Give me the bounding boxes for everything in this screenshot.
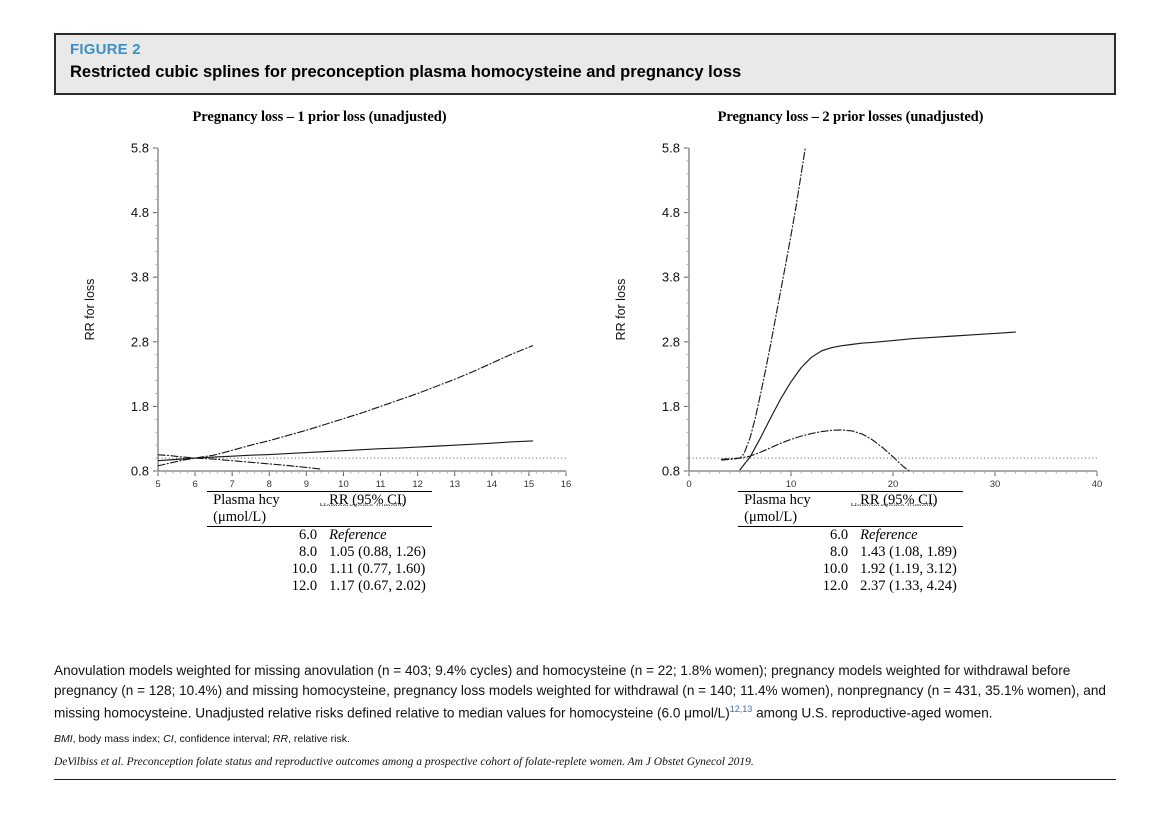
panel-right: Pregnancy loss – 2 prior losses (unadjus… bbox=[585, 95, 1116, 655]
y-tick-label: 5.8 bbox=[662, 141, 680, 156]
x-tick-label: 30 bbox=[990, 479, 1001, 490]
figure-header: FIGURE 2 Restricted cubic splines for pr… bbox=[54, 33, 1116, 95]
table-cell-rr: 1.92 (1.19, 3.12) bbox=[854, 561, 963, 578]
x-tick-label: 6 bbox=[192, 479, 197, 490]
y-axis-title: RR for loss bbox=[614, 279, 628, 341]
table-header-hcy: Plasma hcy(μmol/L) bbox=[738, 492, 854, 527]
charts-panels: Pregnancy loss – 1 prior loss (unadjuste… bbox=[54, 95, 1116, 655]
y-axis-title: RR for loss bbox=[83, 279, 97, 341]
y-tick-label: 0.8 bbox=[662, 464, 680, 479]
chart-series-dashdot bbox=[722, 430, 910, 471]
table-row: 6.0Reference bbox=[207, 527, 432, 545]
table-cell-hcy: 8.0 bbox=[738, 544, 854, 561]
abbrev-bmi-desc: , body mass index; bbox=[73, 733, 163, 745]
panel-left-title: Pregnancy loss – 1 prior loss (unadjuste… bbox=[54, 95, 585, 126]
figure-label: FIGURE 2 bbox=[70, 41, 1100, 59]
table-cell-hcy: 10.0 bbox=[738, 561, 854, 578]
table-row: 10.01.11 (0.77, 1.60) bbox=[207, 561, 432, 578]
chart-left-svg: 0.81.82.83.84.85.85678910111213141516RR … bbox=[54, 126, 585, 506]
x-tick-label: 12 bbox=[412, 479, 423, 490]
y-tick-label: 3.8 bbox=[662, 270, 680, 285]
citation-line: DeVilbiss et al. Preconception folate st… bbox=[54, 756, 1116, 768]
table-cell-hcy: 6.0 bbox=[738, 527, 854, 545]
x-tick-label: 9 bbox=[304, 479, 309, 490]
table-row: 12.02.37 (1.33, 4.24) bbox=[738, 578, 963, 595]
chart-series-dashdot bbox=[722, 148, 806, 460]
table-cell-hcy: 10.0 bbox=[207, 561, 323, 578]
x-tick-label: 0 bbox=[686, 479, 691, 490]
footnote-part2: among U.S. reproductive-aged women. bbox=[752, 706, 992, 721]
x-tick-label: 7 bbox=[230, 479, 235, 490]
table-cell-hcy: 12.0 bbox=[738, 578, 854, 595]
table-cell-hcy: 12.0 bbox=[207, 578, 323, 595]
table-header-hcy: Plasma hcy(μmol/L) bbox=[207, 492, 323, 527]
table-header-rr: RR (95% CI) bbox=[854, 492, 963, 527]
x-tick-label: 8 bbox=[267, 479, 272, 490]
table-cell-hcy: 6.0 bbox=[207, 527, 323, 545]
abbrev-ci-desc: , confidence interval; bbox=[174, 733, 273, 745]
table-row: 8.01.05 (0.88, 1.26) bbox=[207, 544, 432, 561]
table-cell-rr: 1.11 (0.77, 1.60) bbox=[323, 561, 432, 578]
x-tick-label: 16 bbox=[561, 479, 572, 490]
x-tick-label: 40 bbox=[1092, 479, 1103, 490]
table-row: 8.01.43 (1.08, 1.89) bbox=[738, 544, 963, 561]
figure-container: FIGURE 2 Restricted cubic splines for pr… bbox=[54, 33, 1116, 793]
figure-title: Restricted cubic splines for preconcepti… bbox=[70, 62, 1100, 82]
chart-right: 0.81.82.83.84.85.8010203040RR for lossHo… bbox=[585, 126, 1116, 516]
table-cell-rr: 1.05 (0.88, 1.26) bbox=[323, 544, 432, 561]
table-right-holder: Plasma hcy(μmol/L)RR (95% CI)6.0Referenc… bbox=[585, 491, 1116, 595]
abbrev-rr: RR bbox=[273, 733, 288, 745]
x-tick-label: 10 bbox=[786, 479, 797, 490]
table-row: 12.01.17 (0.67, 2.02) bbox=[207, 578, 432, 595]
y-tick-label: 4.8 bbox=[662, 205, 680, 220]
table-left-holder: Plasma hcy(μmol/L)RR (95% CI)6.0Referenc… bbox=[54, 491, 585, 595]
y-tick-label: 1.8 bbox=[131, 399, 149, 414]
table-cell-rr: Reference bbox=[323, 527, 432, 545]
chart-series-dashdot bbox=[158, 346, 533, 458]
chart-left: 0.81.82.83.84.85.85678910111213141516RR … bbox=[54, 126, 585, 516]
y-tick-label: 2.8 bbox=[131, 334, 149, 349]
table-cell-rr: 2.37 (1.33, 4.24) bbox=[854, 578, 963, 595]
y-tick-label: 4.8 bbox=[131, 205, 149, 220]
abbrev-ci: CI bbox=[163, 733, 174, 745]
y-tick-label: 1.8 bbox=[662, 399, 680, 414]
panel-right-title: Pregnancy loss – 2 prior losses (unadjus… bbox=[585, 95, 1116, 126]
x-tick-label: 5 bbox=[155, 479, 160, 490]
bottom-divider bbox=[54, 779, 1116, 780]
table-cell-rr: 1.17 (0.67, 2.02) bbox=[323, 578, 432, 595]
abbrev-bmi: BMI bbox=[54, 733, 73, 745]
abbrev-rr-desc: , relative risk. bbox=[288, 733, 350, 745]
table-cell-rr: 1.43 (1.08, 1.89) bbox=[854, 544, 963, 561]
x-tick-label: 15 bbox=[524, 479, 535, 490]
chart-right-svg: 0.81.82.83.84.85.8010203040RR for lossHo… bbox=[585, 126, 1116, 506]
table-right: Plasma hcy(μmol/L)RR (95% CI)6.0Referenc… bbox=[738, 491, 963, 595]
x-tick-label: 13 bbox=[449, 479, 460, 490]
x-tick-label: 20 bbox=[888, 479, 899, 490]
panel-left: Pregnancy loss – 1 prior loss (unadjuste… bbox=[54, 95, 585, 655]
chart-series-solid bbox=[740, 332, 1015, 470]
y-tick-label: 2.8 bbox=[662, 334, 680, 349]
y-tick-label: 5.8 bbox=[131, 141, 149, 156]
table-row: 10.01.92 (1.19, 3.12) bbox=[738, 561, 963, 578]
table-row: 6.0Reference bbox=[738, 527, 963, 545]
table-left: Plasma hcy(μmol/L)RR (95% CI)6.0Referenc… bbox=[207, 491, 432, 595]
table-cell-rr: Reference bbox=[854, 527, 963, 545]
x-tick-label: 14 bbox=[487, 479, 498, 490]
table-header-rr: RR (95% CI) bbox=[323, 492, 432, 527]
abbreviations-line: BMI, body mass index; CI, confidence int… bbox=[54, 732, 1116, 746]
y-tick-label: 0.8 bbox=[131, 464, 149, 479]
table-cell-hcy: 8.0 bbox=[207, 544, 323, 561]
footnote-text: Anovulation models weighted for missing … bbox=[54, 661, 1114, 723]
footnote-superscript: 12,13 bbox=[730, 704, 753, 714]
chart-series-dashdot bbox=[158, 458, 321, 469]
x-tick-label: 11 bbox=[376, 479, 386, 490]
x-tick-label: 10 bbox=[338, 479, 349, 490]
y-tick-label: 3.8 bbox=[131, 270, 149, 285]
